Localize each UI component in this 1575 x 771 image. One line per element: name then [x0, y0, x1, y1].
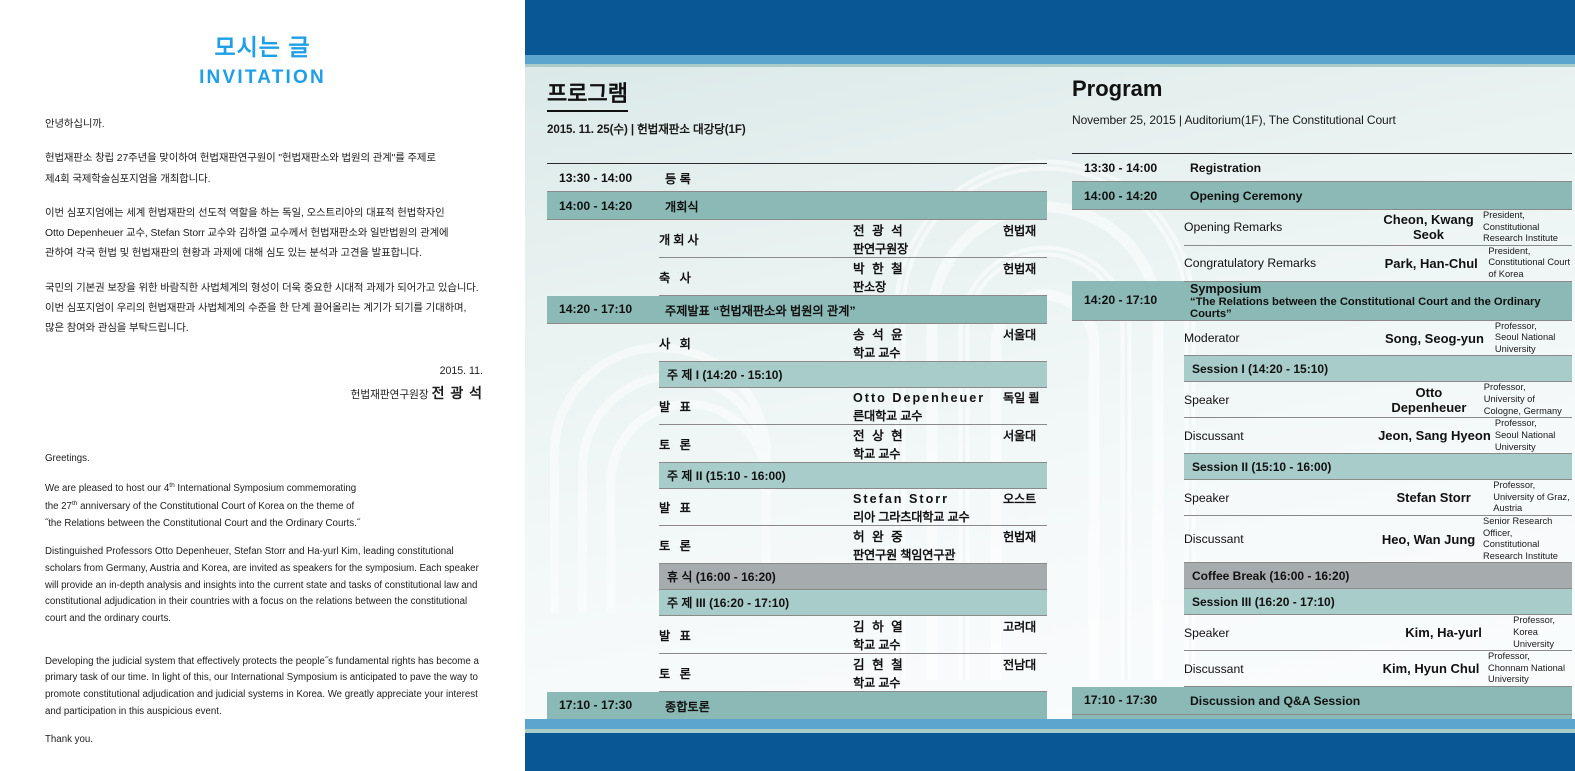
program-row-session: Session III (16:20 - 17:10) — [1072, 589, 1572, 615]
program-row-time: 14:20 - 17:10주제발표 “헌법재판소와 법원의 관계” — [547, 296, 1047, 324]
row-person-name: 허 완 중 — [853, 526, 1003, 545]
row-detail: Heo, Wan JungSenior Research Officer,Con… — [1378, 515, 1572, 562]
en-p1-d: anniversary of the Constitutional Court … — [77, 501, 354, 512]
row-person-name: Song, Seog-yun — [1378, 331, 1491, 346]
row-label: 주 제 III (16:20 - 17:10) — [659, 590, 1047, 616]
row-affiliation: Professor,University of Cologne, Germany — [1480, 382, 1572, 417]
program-row-entry: 사 회송 석 윤서울대학교 교수 — [547, 324, 1047, 362]
row-label: 등 록 — [659, 164, 1047, 192]
row-person-name: Heo, Wan Jung — [1378, 532, 1479, 547]
row-detail: 김 하 열고려대학교 교수 — [853, 616, 1047, 654]
row-spacer — [547, 616, 659, 654]
program-row-break: 휴 식 (16:00 - 16:20) — [547, 564, 1047, 590]
invitation-en-p1: We are pleased to host our 4th Internati… — [45, 480, 483, 533]
row-label: 주 제 I (14:20 - 15:10) — [659, 362, 1047, 388]
row-label: Registration — [1184, 154, 1572, 182]
row-affiliation: Professor,Chonnam National University — [1484, 651, 1572, 686]
program-row-entry: DiscussantHeo, Wan JungSenior Research O… — [1072, 515, 1572, 562]
row-spacer — [547, 489, 659, 526]
row-detail: 전 광 석헌법재판연구원장 — [853, 220, 1047, 258]
row-spacer — [547, 526, 659, 564]
row-affiliation: Professor,Seoul National University — [1491, 418, 1572, 453]
row-label: Opening Ceremony — [1184, 182, 1572, 210]
invitation-title-english: INVITATION — [0, 67, 525, 89]
invitation-ko-p1: 안녕하십니까. — [45, 115, 483, 135]
program-row-time: 17:10 - 17:30Discussion and Q&A Session — [1072, 687, 1572, 715]
program-table-english: 13:30 - 14:00Registration14:00 - 14:20Op… — [1072, 153, 1572, 743]
invitation-body-korean: 안녕하십니까. 헌법재판소 창립 27주년을 맞이하여 헌법재판연구원이 "헌법… — [45, 115, 483, 340]
row-spacer — [547, 362, 659, 388]
row-label: Session II (15:10 - 16:00) — [1184, 454, 1572, 480]
program-column-english: Program November 25, 2015 | Auditorium(1… — [1072, 76, 1572, 771]
row-spacer — [547, 258, 659, 296]
row-detail: Park, Han-ChulPresident,Constitutional C… — [1378, 245, 1572, 281]
row-spacer — [1072, 418, 1184, 454]
row-detail: Stefan Storr오스트리아 그라츠대학교 교수 — [853, 489, 1047, 526]
row-spacer — [547, 654, 659, 692]
row-detail: Song, Seog-yunProfessor,Seoul National U… — [1378, 320, 1572, 356]
program-subtitle-korean: 2015. 11. 25(수) | 헌법재판소 대강당(1F) — [547, 121, 1047, 137]
program-row-entry: SpeakerStefan StorrProfessor,University … — [1072, 480, 1572, 516]
row-label: 개회식 — [659, 192, 1047, 220]
row-role: 토 론 — [659, 526, 853, 564]
row-spacer — [547, 388, 659, 425]
row-spacer — [547, 324, 659, 362]
row-role: 발 표 — [659, 489, 853, 526]
invitation-ko-p4: 국민의 기본권 보장을 위한 바람직한 사법체계의 형성이 더욱 중요한 시대적… — [45, 279, 483, 340]
row-person-name: Park, Han-Chul — [1378, 256, 1484, 271]
row-role: Moderator — [1184, 320, 1378, 356]
program-row-time: 14:20 - 17:10Symposium“The Relations bet… — [1072, 281, 1572, 320]
row-detail: Stefan StorrProfessor,University of Graz… — [1378, 480, 1572, 516]
program-row-time: 13:30 - 14:00Registration — [1072, 154, 1572, 182]
row-detail: 전 상 현서울대학교 교수 — [853, 425, 1047, 463]
row-detail: Otto Depenheuer독일 쾰른대학교 교수 — [853, 388, 1047, 425]
row-spacer — [1072, 210, 1184, 246]
program-row-session: 주 제 II (15:10 - 16:00) — [547, 463, 1047, 489]
program-row-entry: Congratulatory RemarksPark, Han-ChulPres… — [1072, 245, 1572, 281]
row-person-name: 김 하 열 — [853, 616, 1003, 635]
row-role: Congratulatory Remarks — [1184, 245, 1378, 281]
invitation-signature-korean: 2015. 11. 헌법재판연구원장 전 광 석 — [0, 362, 483, 407]
brochure-page: 모시는 글 INVITATION 안녕하십니까. 헌법재판소 창립 27주년을 … — [0, 0, 1575, 771]
row-detail: 허 완 중헌법재판연구원 책임연구관 — [853, 526, 1047, 564]
row-label: Session I (14:20 - 15:10) — [1184, 356, 1572, 382]
invitation-en-p3: Developing the judicial system that effe… — [45, 654, 483, 721]
signature-name-korean: 전 광 석 — [432, 385, 483, 401]
row-label-main: Symposium — [1190, 282, 1572, 296]
row-time: 13:30 - 14:00 — [1072, 154, 1184, 182]
program-row-time: 14:00 - 14:20개회식 — [547, 192, 1047, 220]
row-spacer — [1072, 615, 1184, 651]
row-spacer — [547, 463, 659, 489]
invitation-ko-p3: 이번 심포지엄에는 세계 헌법재판의 선도적 역할을 하는 독일, 오스트리아의… — [45, 204, 483, 265]
row-spacer — [1072, 356, 1184, 382]
row-time: 14:20 - 17:10 — [547, 296, 659, 324]
row-spacer — [547, 220, 659, 258]
row-affiliation: Professor,Seoul National University — [1491, 321, 1572, 356]
row-spacer — [1072, 651, 1184, 687]
program-row-break: Coffee Break (16:00 - 16:20) — [1072, 563, 1572, 589]
bottom-strip-blue — [525, 719, 1575, 729]
en-p1-b: International Symposium commemorating — [175, 483, 356, 494]
en-p1-a: We are pleased to host our 4 — [45, 483, 169, 494]
row-detail: Cheon, Kwang SeokPresident,Constitutiona… — [1378, 210, 1572, 246]
row-detail: 박 한 철헌법재판소장 — [853, 258, 1047, 296]
row-spacer — [547, 590, 659, 616]
program-row-session: Session I (14:20 - 15:10) — [1072, 356, 1572, 382]
row-affiliation: Senior Research Officer,Constitutional R… — [1479, 516, 1572, 562]
row-person-name: Stefan Storr — [1378, 490, 1489, 505]
row-spacer — [1072, 245, 1184, 281]
top-banner-strip-teal — [525, 64, 1575, 67]
row-person-name: 전 광 석 — [853, 220, 1003, 239]
invitation-en-greeting: Greetings. — [45, 451, 483, 468]
row-label: Discussion and Q&A Session — [1184, 687, 1572, 715]
row-role: Speaker — [1184, 382, 1378, 418]
row-spacer — [1072, 382, 1184, 418]
row-role: 토 론 — [659, 654, 853, 692]
program-row-entry: 축 사박 한 철헌법재판소장 — [547, 258, 1047, 296]
program-table-korean: 13:30 - 14:00등 록14:00 - 14:20개회식개회사전 광 석… — [547, 163, 1047, 748]
program-row-entry: 발 표Stefan Storr오스트리아 그라츠대학교 교수 — [547, 489, 1047, 526]
row-affiliation: Professor,Korea University — [1509, 615, 1572, 650]
row-time: 17:10 - 17:30 — [547, 692, 659, 720]
row-role: Speaker — [1184, 480, 1378, 516]
program-row-entry: Opening RemarksCheon, Kwang SeokPresiden… — [1072, 210, 1572, 246]
row-detail: 송 석 윤서울대학교 교수 — [853, 324, 1047, 362]
en-p1-c: the 27 — [45, 501, 72, 512]
row-role: 발 표 — [659, 388, 853, 425]
program-row-session: 주 제 III (16:20 - 17:10) — [547, 590, 1047, 616]
row-person-name: Cheon, Kwang Seok — [1378, 212, 1479, 242]
row-person-name: Kim, Ha-yurl — [1378, 625, 1509, 640]
en-p1-e: ˝the Relations between the Constitutiona… — [45, 518, 360, 529]
signature-line-korean: 헌법재판연구원장 전 광 석 — [0, 381, 483, 407]
top-banner-bar — [525, 0, 1575, 55]
row-detail: Otto DepenheuerProfessor,University of C… — [1378, 382, 1572, 418]
program-row-entry: 토 론김 현 철전남대학교 교수 — [547, 654, 1047, 692]
row-spacer — [1072, 454, 1184, 480]
row-label: 주 제 II (15:10 - 16:00) — [659, 463, 1047, 489]
program-row-entry: DiscussantJeon, Sang HyeonProfessor,Seou… — [1072, 418, 1572, 454]
program-row-entry: DiscussantKim, Hyun ChulProfessor,Chonna… — [1072, 651, 1572, 687]
signature-date-korean: 2015. 11. — [0, 362, 483, 382]
invitation-en-p2: Distinguished Professors Otto Depenheuer… — [45, 544, 483, 627]
row-affiliation: President,Constitutional Research Instit… — [1479, 210, 1572, 245]
row-person-name: 전 상 현 — [853, 425, 1003, 444]
program-row-entry: SpeakerKim, Ha-yurlProfessor,Korea Unive… — [1072, 615, 1572, 651]
row-affiliation: Professor,University of Graz, Austria — [1489, 480, 1572, 515]
row-person-name: Stefan Storr — [853, 492, 1003, 506]
invitation-en-p4: Thank you. — [45, 732, 483, 749]
invitation-ko-p2: 헌법재판소 창립 27주년을 맞이하여 헌법재판연구원이 "헌법재판소와 법원의… — [45, 149, 483, 190]
row-role: Discussant — [1184, 418, 1378, 454]
program-row-session: Session II (15:10 - 16:00) — [1072, 454, 1572, 480]
row-spacer — [547, 425, 659, 463]
program-row-entry: SpeakerOtto DepenheuerProfessor,Universi… — [1072, 382, 1572, 418]
row-person-name: 송 석 윤 — [853, 324, 1003, 343]
program-row-entry: 개회사전 광 석헌법재판연구원장 — [547, 220, 1047, 258]
row-person-name: Otto Depenheuer — [853, 391, 1003, 405]
row-label: Symposium“The Relations between the Cons… — [1184, 281, 1572, 320]
invitation-panel: 모시는 글 INVITATION 안녕하십니까. 헌법재판소 창립 27주년을 … — [0, 0, 525, 771]
row-person-name: Otto Depenheuer — [1378, 385, 1480, 415]
row-role: 개회사 — [659, 220, 853, 258]
row-role: Opening Remarks — [1184, 210, 1378, 246]
row-detail: 김 현 철전남대학교 교수 — [853, 654, 1047, 692]
row-person-name: Kim, Hyun Chul — [1378, 661, 1484, 676]
row-role: Speaker — [1184, 615, 1378, 651]
row-role: Discussant — [1184, 651, 1378, 687]
row-role: 축 사 — [659, 258, 853, 296]
program-row-entry: 발 표김 하 열고려대학교 교수 — [547, 616, 1047, 654]
program-row-time: 17:10 - 17:30종합토론 — [547, 692, 1047, 720]
row-affiliation: President,Constitutional Court of Korea — [1484, 246, 1572, 281]
row-label: Coffee Break (16:00 - 16:20) — [1184, 563, 1572, 589]
program-subtitle-english: November 25, 2015 | Auditorium(1F), The … — [1072, 113, 1572, 127]
signature-role-korean: 헌법재판연구원장 — [351, 389, 429, 401]
row-label: Session III (16:20 - 17:10) — [1184, 589, 1572, 615]
program-row-session: 주 제 I (14:20 - 15:10) — [547, 362, 1047, 388]
program-panel: 헌법재판연구원 제4회 국제학술심포지엄 The 4th Internation… — [525, 0, 1575, 771]
row-detail: Kim, Hyun ChulProfessor,Chonnam National… — [1378, 651, 1572, 687]
row-time: 17:10 - 17:30 — [1072, 687, 1184, 715]
row-time: 14:00 - 14:20 — [1072, 182, 1184, 210]
program-row-entry: 발 표Otto Depenheuer독일 쾰른대학교 교수 — [547, 388, 1047, 425]
program-row-entry: 토 론전 상 현서울대학교 교수 — [547, 425, 1047, 463]
row-person-name: 김 현 철 — [853, 654, 1003, 673]
row-label-sub: “The Relations between the Constitutiona… — [1190, 296, 1572, 320]
row-detail: Kim, Ha-yurlProfessor,Korea University — [1378, 615, 1572, 651]
row-spacer — [1072, 563, 1184, 589]
program-row-time: 13:30 - 14:00등 록 — [547, 164, 1047, 192]
row-role: 사 회 — [659, 324, 853, 362]
row-label: 종합토론 — [659, 692, 1047, 720]
program-title-korean: 프로그램 — [547, 76, 628, 112]
program-row-entry: 토 론허 완 중헌법재판연구원 책임연구관 — [547, 526, 1047, 564]
row-role: Discussant — [1184, 515, 1378, 562]
row-spacer — [547, 564, 659, 590]
row-spacer — [1072, 589, 1184, 615]
row-role: 발 표 — [659, 616, 853, 654]
invitation-body-english: Greetings. We are pleased to host our 4t… — [45, 451, 483, 749]
top-banner-strip-blue — [525, 55, 1575, 64]
row-label: 주제발표 “헌법재판소와 법원의 관계” — [659, 296, 1047, 324]
row-person-name: 박 한 철 — [853, 258, 1003, 277]
program-row-time: 14:00 - 14:20Opening Ceremony — [1072, 182, 1572, 210]
row-label: 휴 식 (16:00 - 16:20) — [659, 564, 1047, 590]
row-role: 토 론 — [659, 425, 853, 463]
row-time: 13:30 - 14:00 — [547, 164, 659, 192]
program-title-english: Program — [1072, 76, 1162, 104]
row-time: 14:20 - 17:10 — [1072, 281, 1184, 320]
row-spacer — [1072, 515, 1184, 562]
program-column-korean: 프로그램 2015. 11. 25(수) | 헌법재판소 대강당(1F) 13:… — [547, 76, 1047, 771]
invitation-title-korean: 모시는 글 — [0, 28, 525, 62]
row-spacer — [1072, 320, 1184, 356]
row-spacer — [1072, 480, 1184, 516]
row-detail: Jeon, Sang HyeonProfessor,Seoul National… — [1378, 418, 1572, 454]
bottom-banner-bar — [525, 733, 1575, 771]
row-time: 14:00 - 14:20 — [547, 192, 659, 220]
program-row-entry: ModeratorSong, Seog-yunProfessor,Seoul N… — [1072, 320, 1572, 356]
row-person-name: Jeon, Sang Hyeon — [1378, 428, 1491, 443]
